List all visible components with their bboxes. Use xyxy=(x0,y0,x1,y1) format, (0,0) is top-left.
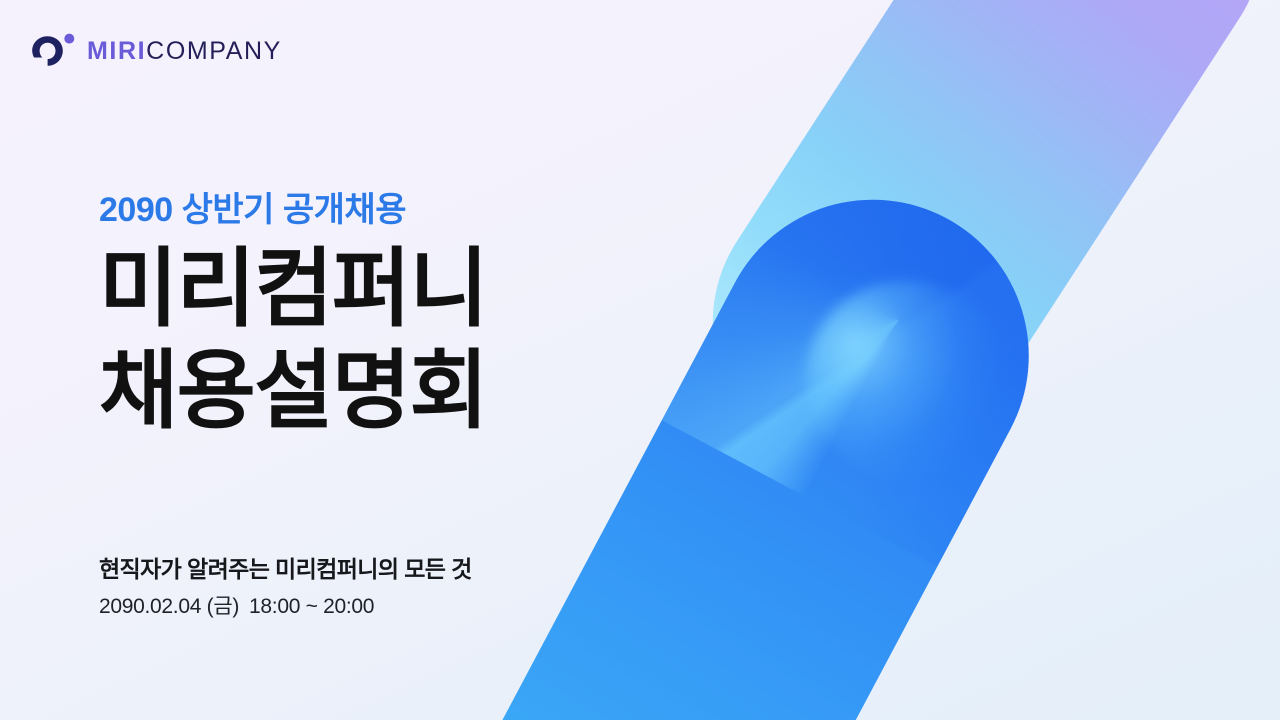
page-title-line-2: 채용설명회 xyxy=(99,340,487,442)
page-title: 미리컴퍼니 채용설명회 xyxy=(99,238,487,443)
brand-wordmark: MIRICOMPANY xyxy=(87,39,282,64)
blue-capsule-shape xyxy=(386,145,1084,720)
hero-eyebrow: 2090 상반기 공개채용 xyxy=(99,182,406,231)
capsule-cap-crease xyxy=(662,145,1084,567)
event-time: 18:00 ~ 20:00 xyxy=(249,595,374,618)
recruiting-seminar-poster: MIRICOMPANY 2090 상반기 공개채용 미리컴퍼니 채용설명회 현직… xyxy=(0,0,1280,720)
hero-subtitle: 현직자가 알려주는 미리컴퍼니의 모든 것 xyxy=(99,550,472,584)
capsule-cap-shading xyxy=(662,145,1084,567)
brand-wordmark-base: COMPANY xyxy=(146,39,282,64)
event-date: 2090.02.04 (금) xyxy=(99,595,239,618)
miri-ring-dot-logo-icon xyxy=(30,30,76,72)
hero-schedule: 2090.02.04 (금)18:00 ~ 20:00 xyxy=(99,590,374,620)
purple-capsule-shape xyxy=(655,0,1280,530)
brand-logo[interactable]: MIRICOMPANY xyxy=(30,28,282,74)
brand-wordmark-accent: MIRI xyxy=(87,39,146,64)
page-title-line-1: 미리컴퍼니 xyxy=(99,238,487,340)
capsule-cap-highlight xyxy=(770,245,1049,520)
